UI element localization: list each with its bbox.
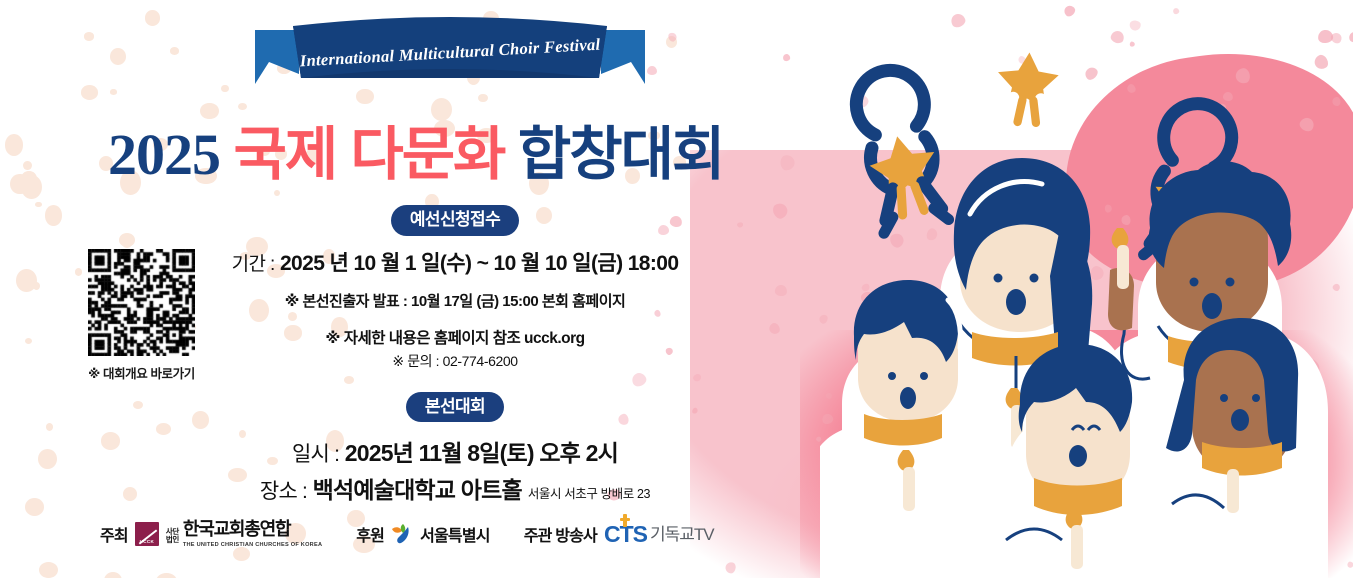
badge-preliminary: 예선신청접수 [391, 205, 519, 236]
finals-where: 장소 : 백석예술대학교 아트홀서울시 서초구 방배로 23 [205, 471, 705, 505]
ucck-name-english: THE UNITED CHRISTIAN CHURCHES OF KOREA [183, 542, 322, 548]
preliminary-period: 기간 : 2025 년 10 월 1 일(수) ~ 10 월 10 일(금) 1… [205, 247, 705, 277]
ribbon-banner: International Multicultural Choir Festiv… [255, 12, 645, 90]
choir-illustration [820, 0, 1353, 578]
finals-where-label: 장소 : [260, 480, 307, 503]
preliminary-period-label: 기간 : [232, 254, 275, 275]
qr-caption: ※ 대회개요 바로가기 [84, 363, 199, 382]
cts-logo-korean: 기독교TV [650, 526, 714, 543]
event-info: 예선신청접수 기간 : 2025 년 10 월 1 일(수) ~ 10 월 10… [205, 205, 705, 505]
broadcaster-label: 주관 방송사 [524, 522, 597, 546]
seoul-logo-icon [391, 523, 413, 545]
page-title: 2025 국제 다문화 합창대회 [108, 126, 723, 184]
ucck-logo-text: 사단법인 한국교회총연합 THE UNITED CHRISTIAN CHURCH… [166, 520, 322, 548]
finals-when: 일시 : 2025년 11월 8일(토) 오후 2시 [205, 434, 705, 468]
badge-finals: 본선대회 [406, 392, 504, 423]
ucck-logo-mark: UCCK [135, 522, 159, 546]
qr-code-image[interactable] [88, 249, 195, 356]
title-highlight: 국제 다문화 [234, 122, 505, 187]
ucck-name-korean: 한국교회총연합 [183, 519, 291, 539]
host-group: 주최 UCCK 사단법인 한국교회총연합 THE UNITED CHRISTIA… [100, 520, 322, 548]
cts-logo: CTS 기독교TV [604, 523, 714, 546]
preliminary-result-note: ※ 본선진출자 발표 : 10월 17일 (금) 15:00 본회 홈페이지 [205, 290, 705, 311]
sponsor-group: 후원 서울특별시 [356, 522, 489, 546]
cts-logo-latin: CTS [604, 523, 647, 546]
broadcaster-group: 주관 방송사 CTS 기독교TV [524, 522, 714, 546]
poster-canvas: International Multicultural Choir Festiv… [0, 0, 1353, 578]
sponsor-org-name: 서울특별시 [420, 522, 490, 546]
finals-where-value: 백석예술대학교 아트홀 [313, 477, 522, 503]
title-year: 2025 [108, 122, 220, 187]
finals-when-value: 2025년 11월 8일(토) 오후 2시 [345, 440, 618, 466]
ucck-mark-text: UCCK [135, 539, 159, 544]
preliminary-period-value: 2025 년 10 월 1 일(수) ~ 10 월 10 일(금) 18:00 [280, 252, 678, 275]
finals-where-address: 서울시 서초구 방배로 23 [528, 487, 650, 501]
title-main: 합창대회 [518, 122, 723, 187]
finals-when-label: 일시 : [292, 443, 339, 466]
qr-block[interactable]: ※ 대회개요 바로가기 [84, 249, 199, 382]
preliminary-site-note: ※ 자세한 내용은 홈페이지 참조 ucck.org [205, 326, 705, 348]
cross-icon [623, 514, 627, 527]
host-label: 주최 [100, 522, 128, 546]
footer-logos: 주최 UCCK 사단법인 한국교회총연합 THE UNITED CHRISTIA… [100, 520, 714, 548]
sponsor-label: 후원 [356, 522, 384, 546]
ucck-corporate-prefix: 사단법인 [166, 528, 179, 548]
preliminary-tel-note: ※ 문의 : 02-774-6200 [205, 351, 705, 371]
